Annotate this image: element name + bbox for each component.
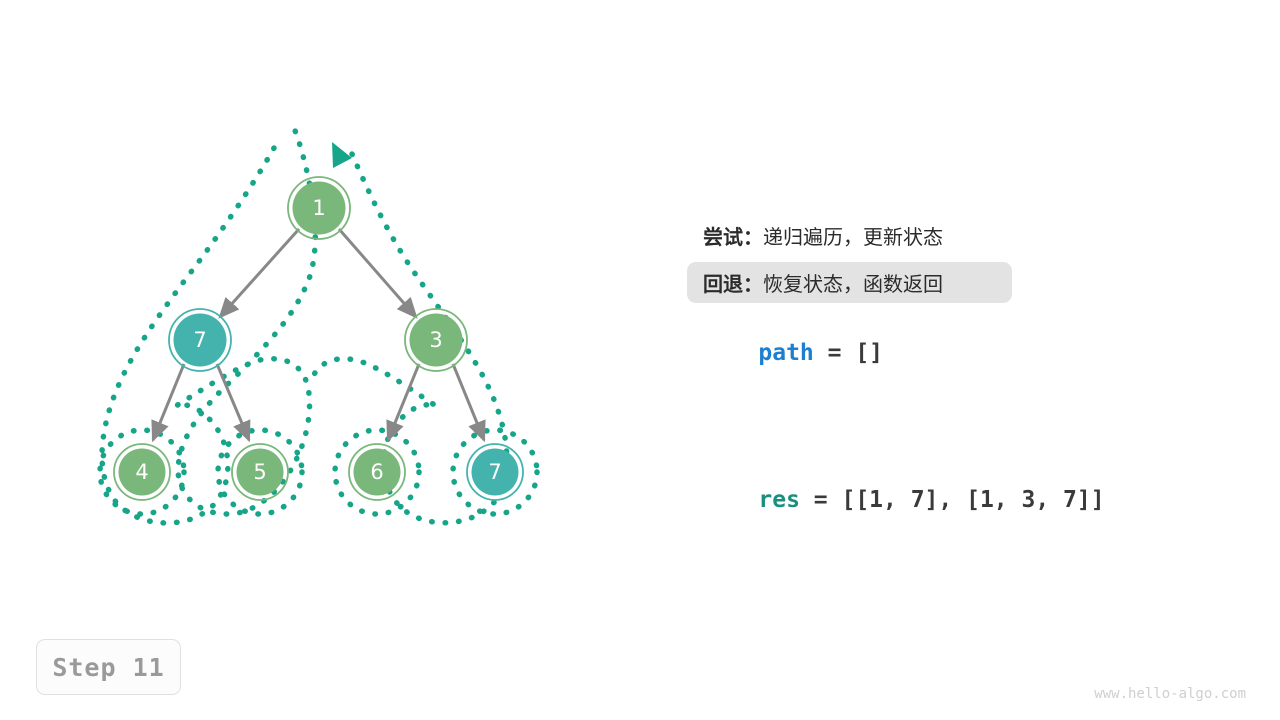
operation-try-key: 尝试：	[703, 221, 763, 250]
edge-1-to-3	[339, 229, 416, 317]
operation-backtrack-key: 回退：	[703, 268, 763, 297]
edge-7l-to-5	[217, 364, 249, 440]
watermark: www.hello-algo.com	[1094, 686, 1246, 702]
tree-node-4[interactable]: 4	[114, 444, 170, 500]
tree-nodes: 1 7 3 4 5	[114, 177, 523, 500]
variable-res-name: res	[758, 487, 800, 513]
variable-res-value: = [[1, 7], [1, 3, 7]]	[800, 487, 1105, 513]
traversal-cursor-icon	[332, 142, 352, 168]
tree-node-7-left[interactable]: 7	[169, 309, 231, 371]
edge-7l-to-4	[153, 364, 184, 440]
tree-node-6[interactable]: 6	[349, 444, 405, 500]
tree-node-1-label: 1	[312, 196, 325, 220]
tree-node-5-label: 5	[253, 460, 266, 484]
edge-1-to-7l	[220, 229, 299, 317]
operation-row-try: 尝试： 递归遍历，更新状态	[687, 215, 1012, 256]
info-panel: 尝试： 递归遍历，更新状态 回退： 恢复状态，函数返回 path = [] re…	[687, 215, 1227, 535]
operation-row-backtrack: 回退： 恢复状态，函数返回	[687, 262, 1012, 303]
binary-tree-diagram: 1 7 3 4 5	[60, 110, 600, 550]
variable-row-res: res = [[1, 7], [1, 3, 7]]	[687, 466, 1227, 535]
tree-node-5[interactable]: 5	[232, 444, 288, 500]
tree-node-3-label: 3	[429, 328, 442, 352]
edge-3-to-7r	[453, 364, 484, 440]
tree-node-7-right[interactable]: 7	[467, 444, 523, 500]
edge-3-to-6	[388, 364, 419, 440]
tree-node-7-left-label: 7	[193, 328, 206, 352]
operation-try-text: 递归遍历，更新状态	[763, 221, 943, 250]
step-badge: Step 11	[36, 639, 181, 695]
tree-node-6-label: 6	[370, 460, 383, 484]
step-badge-label: Step 11	[52, 653, 164, 682]
variable-path-value: = []	[814, 340, 883, 366]
tree-node-4-label: 4	[135, 460, 148, 484]
tree-node-7-right-label: 7	[488, 460, 501, 484]
operation-backtrack-text: 恢复状态，函数返回	[763, 268, 943, 297]
variable-row-path: path = []	[687, 319, 1227, 388]
tree-node-1[interactable]: 1	[288, 177, 350, 239]
tree-node-3[interactable]: 3	[405, 309, 467, 371]
variable-path-name: path	[758, 340, 813, 366]
